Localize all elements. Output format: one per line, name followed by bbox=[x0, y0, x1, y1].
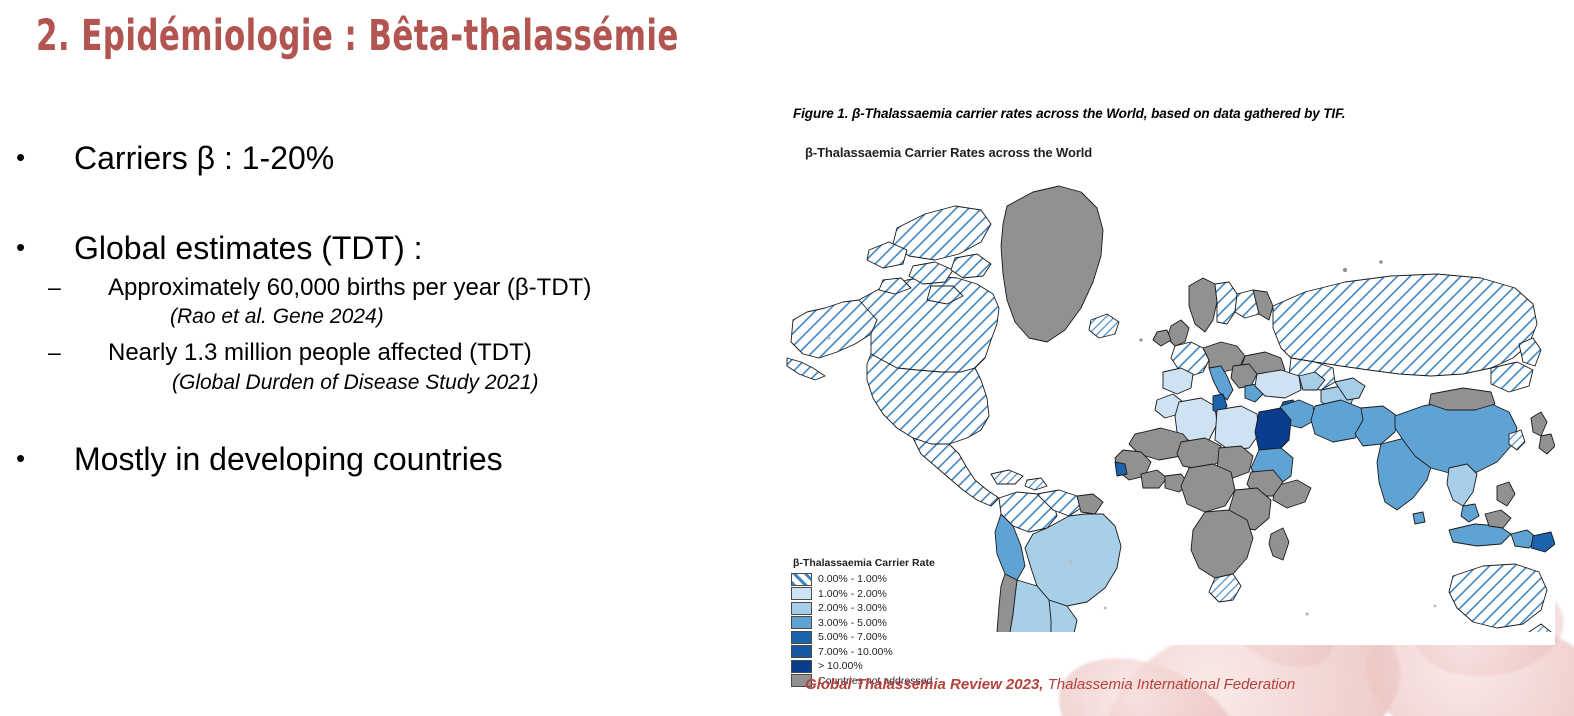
legend-item: 7.00% - 10.00% bbox=[791, 645, 1006, 660]
legend-item: > 10.00% bbox=[791, 659, 1006, 674]
sub-bullet-item: – Nearly 1.3 million people affected (TD… bbox=[0, 339, 760, 368]
figure-panel: Figure 1. β-Thalassaemia carrier rates a… bbox=[785, 100, 1555, 645]
legend-item: 0.00% - 1.00% bbox=[791, 572, 1006, 587]
legend-label: 7.00% - 10.00% bbox=[818, 646, 893, 658]
sub-bullet-text: Nearly 1.3 million people affected (TDT) bbox=[108, 339, 532, 368]
legend-item: 2.00% - 3.00% bbox=[791, 601, 1006, 616]
bullet-text: Mostly in developing countries bbox=[74, 441, 503, 479]
slide-title: 2. Epidémiologie : Bêta-thalassémie bbox=[36, 14, 679, 59]
source-bold: Global Thalassemia Review 2023, bbox=[805, 676, 1043, 693]
sub-bullet-list: – Approximately 60,000 births per year (… bbox=[0, 274, 760, 396]
sub-bullet-marker: – bbox=[0, 274, 108, 302]
legend-swatch bbox=[791, 631, 812, 644]
legend-label: 2.00% - 3.00% bbox=[818, 602, 887, 614]
citation-text: (Rao et al. Gene 2024) bbox=[170, 304, 760, 329]
slide-body: • Carriers β : 1-20% • Global estimates … bbox=[0, 140, 760, 479]
figure-caption: Figure 1. β-Thalassaemia carrier rates a… bbox=[785, 100, 1555, 121]
legend-title: β-Thalassaemia Carrier Rate bbox=[793, 557, 1006, 569]
legend-swatch bbox=[791, 587, 812, 600]
bullet-group: • Global estimates (TDT) : – Approximate… bbox=[0, 230, 760, 396]
world-map: β-Thalassaemia Carrier Rate 0.00% - 1.00… bbox=[785, 162, 1555, 632]
legend-swatch bbox=[791, 660, 812, 673]
map-legend: β-Thalassaemia Carrier Rate 0.00% - 1.00… bbox=[791, 557, 1006, 688]
legend-item: 3.00% - 5.00% bbox=[791, 616, 1006, 631]
legend-swatch bbox=[791, 616, 812, 629]
map-title: β-Thalassaemia Carrier Rates across the … bbox=[785, 121, 1555, 160]
legend-label: 5.00% - 7.00% bbox=[818, 631, 887, 643]
sub-bullet-text: Approximately 60,000 births per year (β-… bbox=[108, 274, 591, 303]
bullet-item: • Mostly in developing countries bbox=[0, 441, 760, 479]
legend-swatch bbox=[791, 602, 812, 615]
legend-label: > 10.00% bbox=[818, 660, 863, 672]
legend-swatch bbox=[791, 645, 812, 658]
legend-label: 0.00% - 1.00% bbox=[818, 573, 887, 585]
legend-item: 5.00% - 7.00% bbox=[791, 630, 1006, 645]
bullet-item: • Carriers β : 1-20% bbox=[0, 140, 760, 178]
bullet-text: Global estimates (TDT) : bbox=[74, 230, 423, 268]
bullet-marker: • bbox=[0, 140, 74, 175]
legend-label: 1.00% - 2.00% bbox=[818, 588, 887, 600]
legend-item: 1.00% - 2.00% bbox=[791, 587, 1006, 602]
bullet-item: • Global estimates (TDT) : bbox=[0, 230, 760, 268]
bullet-marker: • bbox=[0, 441, 74, 476]
source-citation: Global Thalassemia Review 2023, Thalasse… bbox=[805, 676, 1295, 693]
bullet-marker: • bbox=[0, 230, 74, 265]
legend-label: 3.00% - 5.00% bbox=[818, 617, 887, 629]
sub-bullet-marker: – bbox=[0, 339, 108, 367]
citation-text: (Global Durden of Disease Study 2021) bbox=[172, 370, 760, 395]
sub-bullet-item: – Approximately 60,000 births per year (… bbox=[0, 274, 760, 303]
source-rest: Thalassemia International Federation bbox=[1043, 676, 1295, 693]
bullet-text: Carriers β : 1-20% bbox=[74, 140, 334, 178]
legend-swatch bbox=[791, 573, 812, 586]
